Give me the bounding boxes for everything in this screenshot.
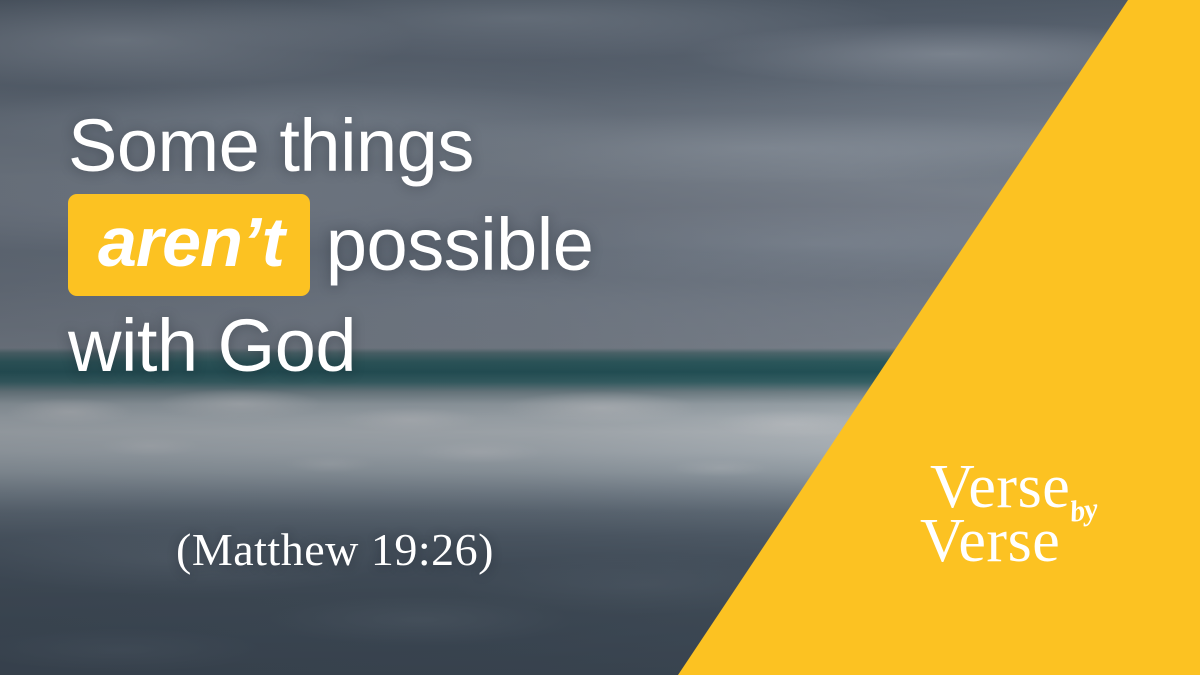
logo-word-by: by — [1068, 494, 1099, 528]
verse-line-1: Some things — [68, 98, 888, 194]
verse-text-block: Some things aren’t possible with God — [68, 98, 888, 394]
verse-line-2-rest: possible — [326, 197, 594, 293]
scripture-citation: (Matthew 19:26) — [176, 522, 494, 578]
highlighted-word: aren’t — [68, 194, 310, 296]
verse-line-2: aren’t possible — [68, 194, 888, 296]
verse-graphic-canvas: Some things aren’t possible with God (Ma… — [0, 0, 1200, 675]
verse-line-3: with God — [68, 298, 888, 394]
verse-by-verse-logo: Verse by Verse — [920, 452, 1150, 584]
logo-word-verse-bottom: Verse — [920, 510, 1060, 572]
